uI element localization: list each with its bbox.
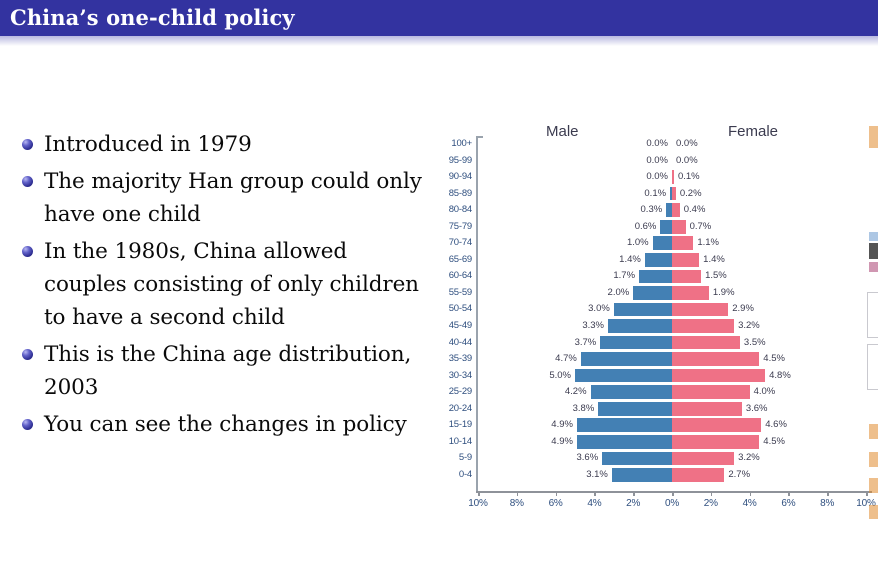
age-group-label: 100+ [434, 138, 472, 149]
age-group-label: 65-69 [434, 254, 472, 265]
bar-female [672, 220, 686, 234]
pyramid-row: 55-592.0%1.9% [434, 285, 878, 302]
age-group-label: 45-49 [434, 320, 472, 331]
age-group-label: 70-74 [434, 237, 472, 248]
bar-value-female: 3.2% [738, 320, 760, 331]
bullet-point-icon [22, 176, 33, 187]
pyramid-row: 25-294.2%4.0% [434, 384, 878, 401]
chart-plot-area: 100+0.0%0.0%95-990.0%0.0%90-940.0%0.1%85… [434, 136, 878, 491]
x-axis-tick [788, 491, 790, 496]
bar-female [672, 303, 728, 317]
edge-artifact-mark [869, 424, 878, 439]
age-group-label: 20-24 [434, 403, 472, 414]
bar-value-female: 0.0% [676, 138, 698, 149]
bar-female [672, 270, 701, 284]
chart-x-axis [476, 491, 872, 493]
bar-female [672, 336, 740, 350]
bullet-point-icon [22, 419, 33, 430]
x-axis-tick-label: 10% [458, 498, 498, 509]
bar-value-male: 0.0% [638, 138, 668, 149]
bar-value-female: 0.1% [678, 171, 700, 182]
bar-female [672, 187, 676, 201]
bar-value-female: 4.5% [763, 436, 785, 447]
bullet-point-icon [22, 246, 33, 257]
pyramid-row: 90-940.0%0.1% [434, 169, 878, 186]
bar-female [672, 352, 759, 366]
x-axis-tick-label: 2% [691, 498, 731, 509]
x-axis-tick-label: 6% [768, 498, 808, 509]
bullet-item: In the 1980s, China allowed couples cons… [22, 235, 422, 334]
age-group-label: 0-4 [434, 469, 472, 480]
age-group-label: 5-9 [434, 452, 472, 463]
bar-female [672, 418, 761, 432]
age-group-label: 10-14 [434, 436, 472, 447]
bullet-item-label: In the 1980s, China allowed couples cons… [44, 235, 422, 334]
pyramid-row: 60-641.7%1.5% [434, 268, 878, 285]
chart-y-axis [476, 136, 478, 491]
edge-artifact-mark [869, 126, 878, 148]
bar-value-male: 3.0% [580, 303, 610, 314]
age-group-label: 95-99 [434, 155, 472, 166]
age-group-label: 40-44 [434, 337, 472, 348]
age-group-label: 90-94 [434, 171, 472, 182]
bar-value-female: 2.7% [728, 469, 750, 480]
bar-value-male: 2.0% [599, 287, 629, 298]
x-axis-tick [633, 491, 635, 496]
bar-value-female: 3.6% [746, 403, 768, 414]
x-axis-tick [750, 491, 752, 496]
bullet-item: The majority Han group could only have o… [22, 165, 422, 231]
bullet-point-icon [22, 139, 33, 150]
bar-female [672, 369, 765, 383]
bar-female [672, 253, 699, 267]
pyramid-row: 100+0.0%0.0% [434, 136, 878, 153]
bullet-item-label: This is the China age distribution, 2003 [44, 338, 422, 404]
pyramid-row: 40-443.7%3.5% [434, 335, 878, 352]
x-axis-tick-label: 6% [536, 498, 576, 509]
bar-male [577, 418, 672, 432]
bar-value-female: 4.5% [763, 353, 785, 364]
edge-artifact-mark [869, 262, 878, 272]
age-group-label: 75-79 [434, 221, 472, 232]
x-axis-tick-label: 4% [574, 498, 614, 509]
bar-value-male: 1.0% [619, 237, 649, 248]
bar-male [575, 369, 672, 383]
bar-male [612, 468, 672, 482]
pyramid-row: 50-543.0%2.9% [434, 301, 878, 318]
pyramid-row: 30-345.0%4.8% [434, 368, 878, 385]
bar-female [672, 402, 742, 416]
x-axis-tick-label: 8% [807, 498, 847, 509]
bullet-item-label: Introduced in 1979 [44, 128, 422, 161]
bar-male [577, 435, 672, 449]
x-axis-tick-label: 0% [652, 498, 692, 509]
bar-male [639, 270, 672, 284]
pyramid-row: 75-790.6%0.7% [434, 219, 878, 236]
bar-value-female: 1.5% [705, 270, 727, 281]
bar-value-female: 0.2% [680, 188, 702, 199]
bar-value-male: 3.6% [568, 452, 598, 463]
age-group-label: 50-54 [434, 303, 472, 314]
pyramid-row: 20-243.8%3.6% [434, 401, 878, 418]
bar-value-male: 0.0% [638, 171, 668, 182]
x-axis-tick [672, 491, 674, 496]
age-group-label: 85-89 [434, 188, 472, 199]
population-pyramid-chart: Male Female 100+0.0%0.0%95-990.0%0.0%90-… [434, 118, 878, 518]
pyramid-row: 35-394.7%4.5% [434, 351, 878, 368]
bar-male [581, 352, 672, 366]
bar-value-male: 0.6% [626, 221, 656, 232]
bar-value-male: 0.1% [636, 188, 666, 199]
bar-value-male: 0.0% [638, 155, 668, 166]
bar-value-female: 4.0% [754, 386, 776, 397]
bar-value-female: 4.6% [765, 419, 787, 430]
x-axis-tick-label: 2% [613, 498, 653, 509]
bar-male [600, 336, 672, 350]
edge-artifact-frame [867, 292, 878, 338]
bar-male [608, 319, 672, 333]
slide-title-bar: China’s one-child policy [0, 0, 878, 36]
age-group-label: 15-19 [434, 419, 472, 430]
bar-value-male: 4.7% [547, 353, 577, 364]
bar-value-female: 3.5% [744, 337, 766, 348]
bullet-item-label: You can see the changes in policy [44, 408, 422, 441]
pyramid-row: 85-890.1%0.2% [434, 186, 878, 203]
pyramid-row: 45-493.3%3.2% [434, 318, 878, 335]
bar-value-male: 3.3% [574, 320, 604, 331]
bar-male [645, 253, 672, 267]
bullet-list: Introduced in 1979The majority Han group… [22, 128, 422, 445]
bar-female [672, 319, 734, 333]
age-group-label: 25-29 [434, 386, 472, 397]
pyramid-row: 10-144.9%4.5% [434, 434, 878, 451]
pyramid-row: 70-741.0%1.1% [434, 235, 878, 252]
bullet-item-label: The majority Han group could only have o… [44, 165, 422, 231]
x-axis-tick [594, 491, 596, 496]
page-title: China’s one-child policy [10, 5, 295, 30]
x-axis-tick [478, 491, 480, 496]
chart-y-axis-cap [476, 136, 483, 138]
bullet-item: You can see the changes in policy [22, 408, 422, 441]
bar-value-male: 1.7% [605, 270, 635, 281]
x-axis-tick [866, 491, 868, 496]
pyramid-row: 5-93.6%3.2% [434, 450, 878, 467]
age-group-label: 80-84 [434, 204, 472, 215]
bar-value-female: 0.4% [684, 204, 706, 215]
x-axis-tick [517, 491, 519, 496]
bar-value-male: 3.1% [578, 469, 608, 480]
bar-male [602, 452, 672, 466]
bar-female [672, 286, 709, 300]
bar-female [672, 203, 680, 217]
age-group-label: 35-39 [434, 353, 472, 364]
bar-value-female: 4.8% [769, 370, 791, 381]
edge-artifact-mark [869, 232, 878, 241]
pyramid-row: 15-194.9%4.6% [434, 417, 878, 434]
pyramid-row: 80-840.3%0.4% [434, 202, 878, 219]
bar-female [672, 452, 734, 466]
bar-value-male: 5.0% [541, 370, 571, 381]
edge-artifact-mark [869, 505, 878, 519]
title-bar-shadow [0, 36, 878, 46]
bar-value-female: 0.0% [676, 155, 698, 166]
bar-value-male: 4.9% [543, 419, 573, 430]
age-group-label: 55-59 [434, 287, 472, 298]
bar-value-male: 3.7% [566, 337, 596, 348]
bar-value-female: 0.7% [690, 221, 712, 232]
bullet-item: Introduced in 1979 [22, 128, 422, 161]
x-axis-tick-label: 4% [730, 498, 770, 509]
bar-value-male: 4.9% [543, 436, 573, 447]
edge-artifact-mark [869, 452, 878, 467]
bar-female [672, 435, 759, 449]
x-axis-tick [711, 491, 713, 496]
age-group-label: 60-64 [434, 270, 472, 281]
age-group-label: 30-34 [434, 370, 472, 381]
bar-male [598, 402, 672, 416]
bar-female [672, 468, 724, 482]
edge-artifact-frame [867, 344, 878, 390]
bar-value-male: 0.3% [632, 204, 662, 215]
bar-value-female: 1.9% [713, 287, 735, 298]
x-axis-tick [556, 491, 558, 496]
bar-value-male: 3.8% [564, 403, 594, 414]
pyramid-row: 95-990.0%0.0% [434, 153, 878, 170]
bar-male [660, 220, 672, 234]
pyramid-row: 65-691.4%1.4% [434, 252, 878, 269]
bar-value-male: 4.2% [557, 386, 587, 397]
bar-male [591, 385, 672, 399]
bar-male [614, 303, 672, 317]
bar-male [653, 236, 672, 250]
bar-female [672, 236, 693, 250]
bar-value-female: 1.1% [697, 237, 719, 248]
edge-artifact-mark [869, 478, 878, 493]
bullet-item: This is the China age distribution, 2003 [22, 338, 422, 404]
bar-male [633, 286, 672, 300]
bar-value-male: 1.4% [611, 254, 641, 265]
pyramid-row: 0-43.1%2.7% [434, 467, 878, 484]
bar-value-female: 2.9% [732, 303, 754, 314]
bar-value-female: 3.2% [738, 452, 760, 463]
bar-female [672, 385, 750, 399]
bar-value-female: 1.4% [703, 254, 725, 265]
bar-female [672, 170, 674, 184]
bullet-point-icon [22, 349, 33, 360]
x-axis-tick [827, 491, 829, 496]
edge-artifact-mark [869, 243, 878, 259]
x-axis-tick-label: 8% [497, 498, 537, 509]
